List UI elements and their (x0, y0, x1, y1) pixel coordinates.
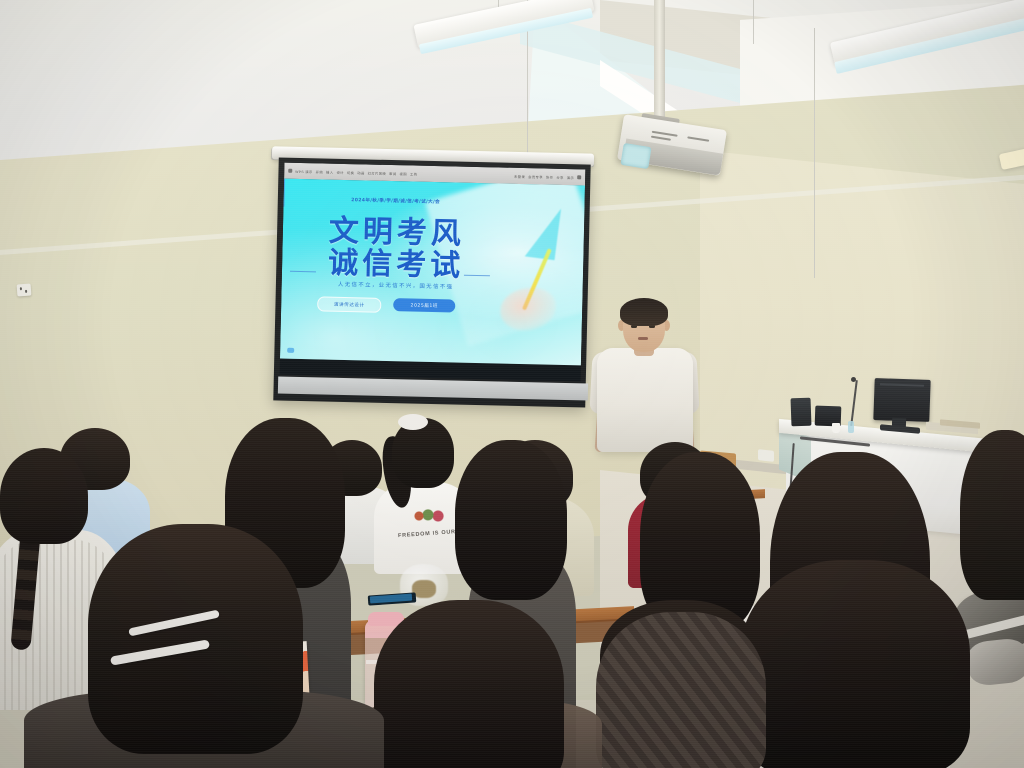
presenter-mouth (638, 337, 648, 340)
slide-canvas: 2024年/秋/季/学/期/诚/信/考/试/大/会 文明考风 诚信考试 人无信不… (280, 179, 585, 366)
paper-cup (832, 423, 840, 433)
student-dark-hair-center-head (374, 600, 564, 768)
slide-corner-logo (287, 348, 294, 353)
projector-lens (620, 143, 651, 169)
presenter-torso (597, 348, 693, 452)
menu-review[interactable]: 审阅 (389, 170, 397, 175)
share-button[interactable]: 分享 (556, 174, 564, 179)
menu-start[interactable]: 开始 (316, 169, 324, 174)
slide-rule-right-tick (283, 193, 284, 207)
menu-tools[interactable]: 工具 (410, 171, 418, 176)
backpack-secondary (966, 637, 1024, 687)
menu-design[interactable]: 设计 (336, 169, 344, 174)
student-grey-top-head (455, 440, 567, 600)
account-status-label[interactable]: 未登录 (514, 173, 525, 178)
member-label[interactable]: 会员专享 (528, 174, 543, 179)
present-button[interactable]: 演示 (567, 175, 575, 180)
classroom-photo: WPS 演示 开始 插入 设计 切换 动画 幻灯片放映 审阅 视图 工具 未登录… (0, 0, 1024, 768)
slide-pill-left: 演讲传达设计 (317, 296, 381, 312)
student-foreground-right-edge-head (960, 430, 1024, 600)
menu-slideshow[interactable]: 幻灯片放映 (368, 170, 387, 175)
water-bottle (848, 421, 854, 433)
slide-pill-right: 2025届1班 (393, 298, 455, 312)
outlet-slot (20, 287, 22, 290)
projector-vent (651, 136, 671, 141)
hair-scrunchie (398, 414, 428, 430)
collaborate-button[interactable]: 协作 (546, 174, 554, 179)
microphone-head (851, 377, 856, 382)
menu-transition[interactable]: 切换 (347, 170, 355, 175)
student-plaid-shirt-body (596, 612, 766, 768)
student-braided-hair-head (0, 448, 88, 544)
presenter-hair (620, 298, 668, 326)
projector-mount-pole (654, 0, 665, 128)
student-ponytail-head (392, 418, 454, 488)
menu-insert[interactable]: 插入 (326, 169, 334, 174)
slide-title-line-2: 诚信考试 (296, 237, 497, 286)
search-icon[interactable] (577, 175, 581, 179)
toolbar-right-group: 未登录 会员专享 协作 分享 演示 (514, 173, 581, 180)
student-foreground-right-head (740, 560, 970, 768)
wall-power-outlet-right (758, 449, 774, 462)
light-suspension-wire (753, 0, 754, 44)
menu-animation[interactable]: 动画 (357, 170, 365, 175)
light-suspension-wire (814, 28, 815, 278)
projector-vent (687, 136, 709, 141)
menu-view[interactable]: 视图 (400, 171, 408, 176)
app-name-label: WPS 演示 (295, 168, 313, 173)
outlet-slot (25, 290, 27, 293)
wall-power-outlet-left (17, 284, 32, 297)
control-tablet[interactable] (791, 398, 812, 427)
slide-rule-left-tick (284, 179, 285, 193)
student-hair-clips-brown-shirt-head (88, 524, 303, 754)
projected-slide-area: WPS 演示 开始 插入 设计 切换 动画 幻灯片放映 审阅 视图 工具 未登录… (280, 163, 586, 382)
file-icon (288, 169, 292, 173)
tshirt-graphic-print (410, 505, 446, 527)
